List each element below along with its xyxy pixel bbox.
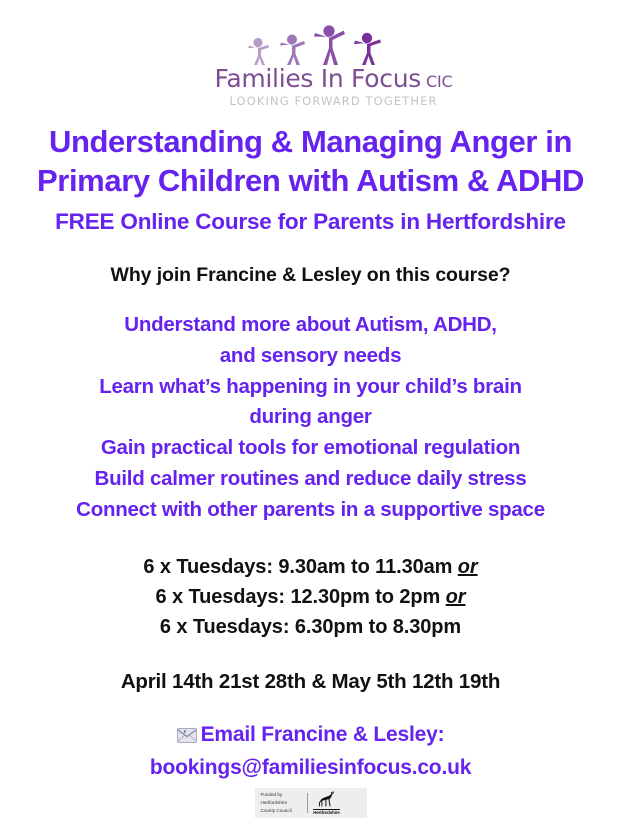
session-time-text: 6 x Tuesdays: 12.30pm to 2pm [155, 586, 445, 608]
session-or-label: or [446, 586, 466, 608]
benefit-item: during anger [8, 402, 613, 433]
logo-person-icon-1 [243, 36, 275, 66]
hart-deer-icon [312, 791, 342, 808]
benefit-item: Understand more about Autism, ADHD, [8, 310, 613, 341]
session-time-row: 6 x Tuesdays: 12.30pm to 2pm or [143, 582, 477, 612]
svg-text:E: E [183, 730, 186, 735]
funder-logo-name: Hertfordshire [313, 809, 340, 816]
funder-text: Funded by Hertfordshire County Council [261, 791, 307, 815]
organisation-logo: Families In Focus CIC LOOKING FORWARD TO… [161, 22, 461, 108]
logo-wordmark: Families In Focus CIC [215, 64, 453, 93]
hertfordshire-council-logo: Hertfordshire [312, 791, 342, 815]
benefit-item: Connect with other parents in a supporti… [8, 495, 613, 526]
benefit-item: and sensory needs [8, 341, 613, 372]
logo-wordmark-cic: CIC [426, 72, 452, 91]
course-dates: April 14th 21st 28th & May 5th 12th 19th [121, 670, 500, 694]
logo-person-icon-2 [276, 33, 310, 66]
page-title: Understanding & Managing Anger in Primar… [11, 122, 611, 200]
session-time-text: 6 x Tuesdays: 6.30pm to 8.30pm [160, 616, 461, 638]
logo-person-icon-4 [350, 31, 385, 66]
session-time-text: 6 x Tuesdays: 9.30am to 11.30am [143, 556, 457, 578]
logo-tagline: LOOKING FORWARD TOGETHER [229, 94, 437, 108]
contact-email-prompt: E Email Francine & Lesley: [150, 720, 471, 752]
contact-block: E Email Francine & Lesley: bookings@fami… [150, 720, 471, 783]
contact-email-address[interactable]: bookings@familiesinfocus.co.uk [150, 753, 471, 783]
benefit-item: Gain practical tools for emotional regul… [8, 433, 613, 464]
section-question: Why join Francine & Lesley on this cours… [111, 264, 511, 287]
poster-canvas: Families In Focus CIC LOOKING FORWARD TO… [0, 0, 621, 836]
logo-figure-group [243, 22, 385, 66]
benefit-item: Learn what’s happening in your child’s b… [8, 372, 613, 403]
session-or-label: or [458, 556, 478, 578]
contact-email-prompt-text: Email Francine & Lesley: [201, 723, 445, 746]
session-times-list: 6 x Tuesdays: 9.30am to 11.30am or 6 x T… [143, 552, 477, 642]
email-envelope-icon: E [177, 722, 197, 752]
logo-person-icon-3 [311, 24, 349, 66]
funder-badge: Funded by Hertfordshire County Council H… [255, 788, 367, 818]
session-time-row: 6 x Tuesdays: 6.30pm to 8.30pm [143, 612, 477, 642]
logo-wordmark-main: Families In Focus [215, 64, 421, 93]
benefit-item: Build calmer routines and reduce daily s… [8, 464, 613, 495]
page-title-line-1: Understanding & Managing Anger in [11, 122, 611, 161]
page-subtitle: FREE Online Course for Parents in Hertfo… [55, 209, 566, 235]
session-time-row: 6 x Tuesdays: 9.30am to 11.30am or [143, 552, 477, 582]
benefits-list: Understand more about Autism, ADHD, and … [8, 310, 613, 525]
funder-divider [307, 793, 308, 813]
page-title-line-2: Primary Children with Autism & ADHD [11, 161, 611, 200]
